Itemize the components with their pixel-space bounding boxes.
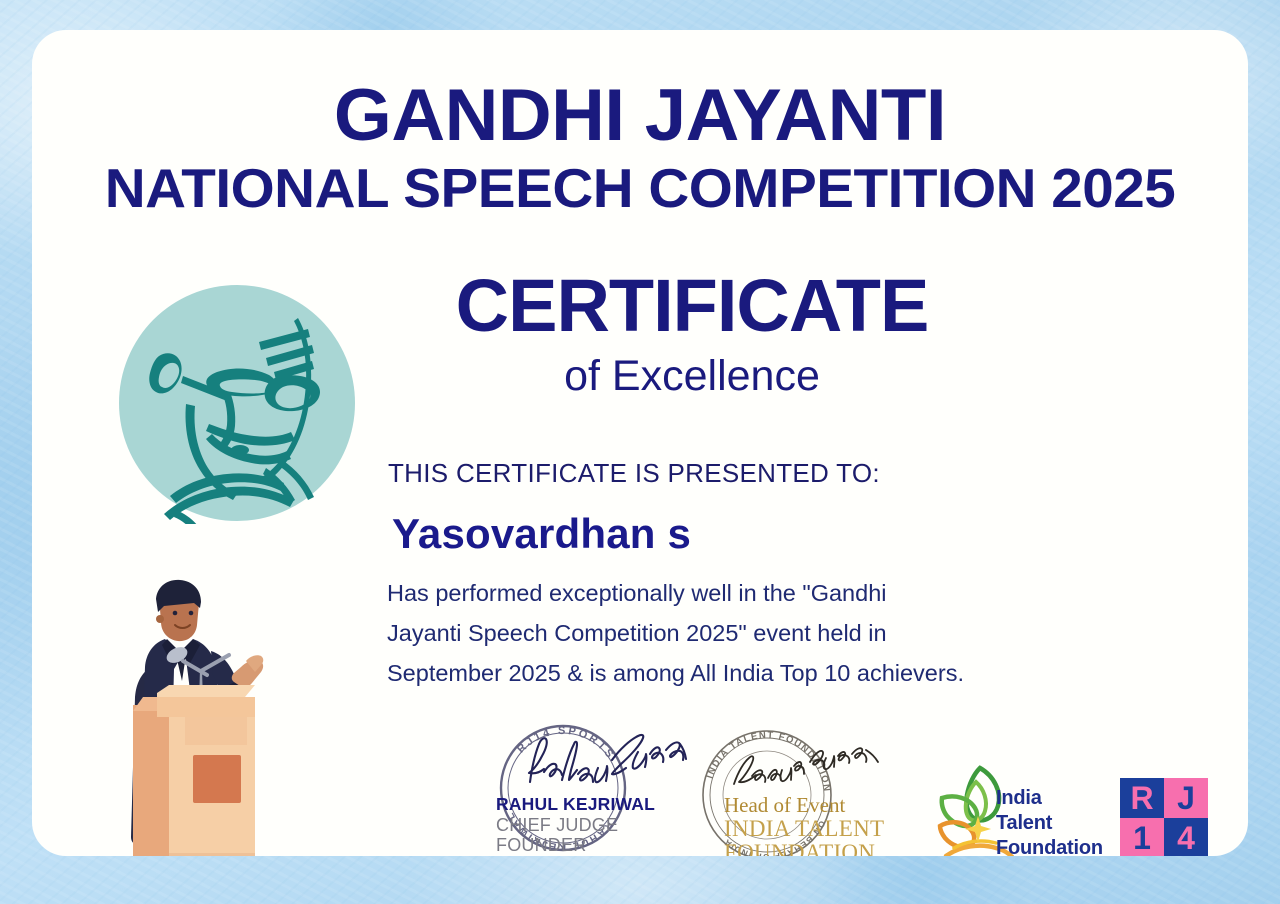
body-line-3: September 2025 & is among All India Top … — [387, 653, 1077, 693]
logo-itf-line2: Foundation — [996, 836, 1103, 856]
body-line-1: Has performed exceptionally well in the … — [387, 573, 1077, 613]
logo-rj14: R J 1 4 SPORTS • ENTERTAINMENT — [1120, 778, 1212, 856]
certificate-card: GANDHI JAYANTI NATIONAL SPEECH COMPETITI… — [32, 30, 1248, 856]
presented-to-label: THIS CERTIFICATE IS PRESENTED TO: — [388, 458, 880, 489]
signatory-org-line1: INDIA TALENT — [724, 816, 884, 842]
event-title-line1: GANDHI JAYANTI — [32, 74, 1248, 157]
signature-block-india-talent-foundation: INDIA TALENT FOUNDATION 2025 ON BEHALF O… — [690, 720, 900, 856]
body-line-2: Jayanti Speech Competition 2025" event h… — [387, 613, 1077, 653]
signatory-org-rj14-sports: RJ14 SPORTS — [496, 855, 619, 856]
recipient-name: Yasovardhan s — [392, 510, 691, 558]
rj14-logo-grid: R J 1 4 — [1120, 778, 1208, 856]
signature-block-rahul-kejriwal: RJ14 SPORTS RAHUL KEJRIWAL RAHUL KEJRIWA… — [480, 710, 695, 856]
rj14-cell-1: 1 — [1120, 818, 1164, 856]
speaker-at-podium-icon — [107, 575, 289, 856]
handwritten-signature-lavina — [730, 742, 890, 794]
signatory-role-chief-judge: CHIEF JUDGE — [496, 815, 618, 836]
signatory-role-founder: FOUNDER — [496, 835, 586, 856]
logo-india-talent-foundation: India Talent Foundation — [936, 756, 1101, 856]
rj14-cell-4: 4 — [1164, 818, 1208, 856]
logo-india-talent-foundation-text: India Talent Foundation — [996, 786, 1103, 856]
rj14-cell-j: J — [1164, 778, 1208, 818]
logo-itf-line1: India Talent — [996, 786, 1103, 836]
event-title-line2: NATIONAL SPEECH COMPETITION 2025 — [32, 156, 1248, 220]
rj14-cell-r: R — [1120, 778, 1164, 818]
handwritten-signature-rahul — [522, 730, 697, 792]
gandhi-portrait-icon — [116, 282, 358, 524]
signatory-org-line2: FOUNDATION — [724, 840, 875, 856]
achievement-body-text: Has performed exceptionally well in the … — [387, 573, 1077, 693]
certificate-word: CERTIFICATE — [362, 263, 1022, 348]
signatory-name-rahul: RAHUL KEJRIWAL — [496, 794, 655, 815]
signatory-role-head-of-event: Head of Event — [724, 793, 845, 818]
excellence-subtitle: of Excellence — [362, 352, 1022, 401]
